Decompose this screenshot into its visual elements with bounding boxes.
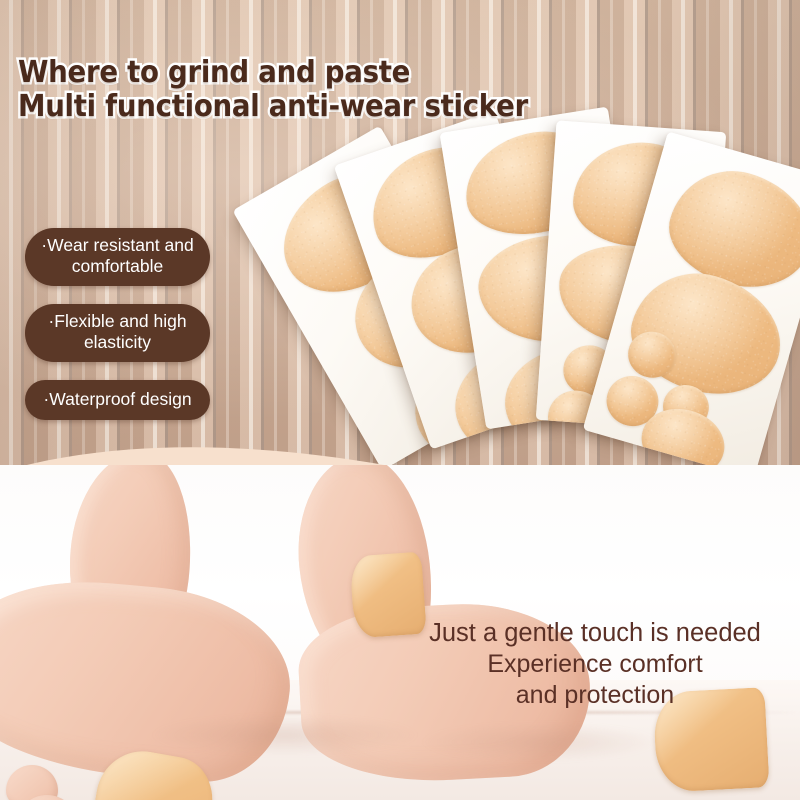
product-banner: Where to grind and paste Multi functiona… [0, 0, 800, 800]
tagline: Just a gentle touch is needed Experience… [400, 618, 790, 711]
tagline-line-3: and protection [400, 680, 790, 711]
feature-list: ·Wear resistant and comfortable ·Flexibl… [25, 228, 255, 438]
tagline-line-2: Experience comfort [400, 649, 790, 680]
front-foot-shadow [150, 715, 420, 755]
feature-pill-waterproof: ·Waterproof design [25, 380, 210, 420]
back-foot-shadow [420, 723, 660, 761]
tagline-line-1: Just a gentle touch is needed [400, 618, 790, 649]
feature-pill-flexible: ·Flexible and high elasticity [25, 304, 210, 362]
feature-pill-wear-resistant: ·Wear resistant and comfortable [25, 228, 210, 286]
